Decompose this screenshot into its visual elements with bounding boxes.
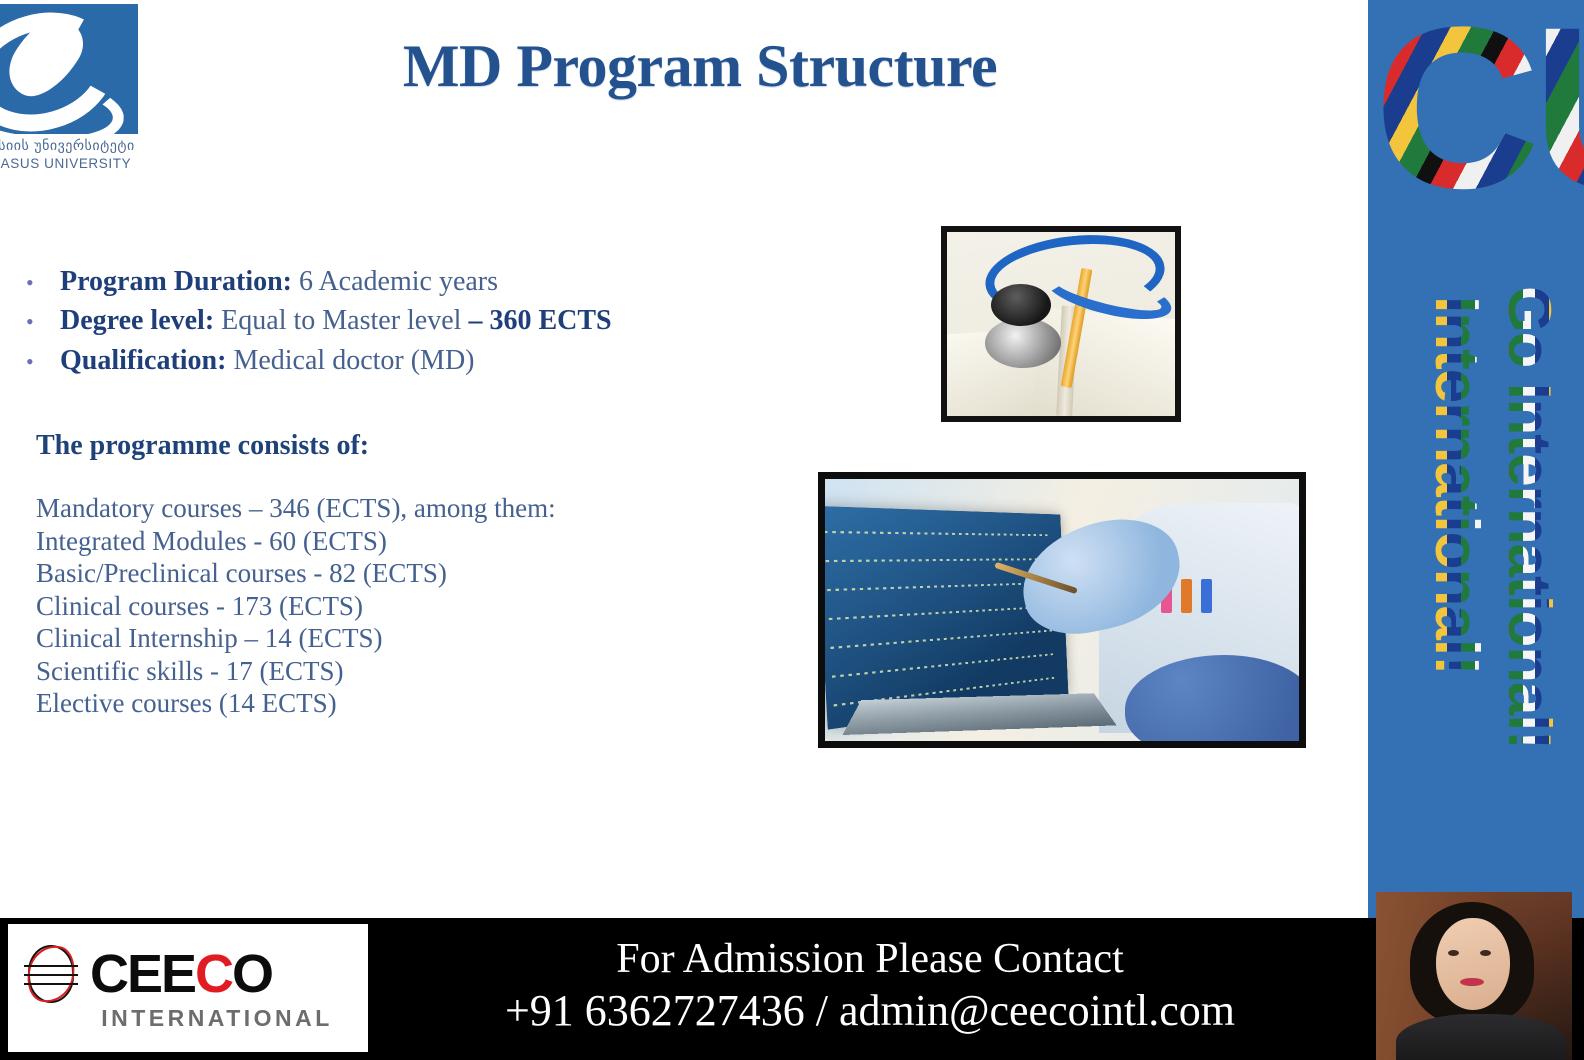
ceeco-subtitle: INTERNATIONAL bbox=[8, 1005, 368, 1032]
presenter-eye-left bbox=[1448, 950, 1459, 956]
list-item: Basic/Preclinical courses - 82 (ECTS) bbox=[36, 557, 796, 590]
banner-text-international: International! bbox=[1421, 296, 1492, 675]
ceeco-international-logo: CEECO INTERNATIONAL bbox=[8, 924, 368, 1052]
list-item: Clinical courses - 173 (ECTS) bbox=[36, 590, 796, 623]
laptop-keyboard-base bbox=[842, 693, 1116, 735]
list-item: • Program Duration:6 Academic years bbox=[18, 266, 738, 298]
caucasus-university-logo: კავკასიის უნივერსიტეტი CAUCASUS UNIVERSI… bbox=[0, 4, 138, 176]
slide-canvas: კავკასიის უნივერსიტეტი CAUCASUS UNIVERSI… bbox=[0, 0, 1584, 1060]
university-logo-mark bbox=[0, 4, 138, 134]
list-item: • Degree level:Equal to Master level – 3… bbox=[18, 305, 738, 337]
list-item: Scientific skills - 17 (ECTS) bbox=[36, 655, 796, 688]
list-item: Integrated Modules - 60 (ECTS) bbox=[36, 525, 796, 558]
bullet-emphasis: – 360 ECTS bbox=[468, 305, 611, 336]
ceeco-wordmark: CEECO bbox=[90, 947, 272, 1001]
globe-parallel bbox=[24, 983, 78, 985]
globe-equator bbox=[24, 974, 78, 976]
presenter-lips bbox=[1460, 978, 1484, 986]
programme-heading: The programme consists of: bbox=[36, 430, 369, 462]
presenter-webcam-thumbnail[interactable] bbox=[1376, 892, 1572, 1060]
bullet-value: Medical doctor (MD) bbox=[233, 345, 474, 376]
contact-heading: For Admission Please Contact bbox=[380, 934, 1360, 984]
bullet-label: Program Duration: bbox=[60, 266, 292, 297]
logo-caption-georgian: კავკასიის უნივერსიტეტი bbox=[0, 138, 138, 154]
bullet-icon: • bbox=[18, 351, 60, 373]
test-tube-blue bbox=[1201, 579, 1212, 613]
data-trace bbox=[832, 653, 1056, 678]
bullet-value: 6 Academic years bbox=[299, 266, 498, 297]
programme-breakdown-list: Mandatory courses – 346 (ECTS), among th… bbox=[36, 492, 796, 720]
presenter-shoulders bbox=[1396, 1014, 1566, 1060]
data-trace bbox=[827, 582, 1052, 591]
contact-block: For Admission Please Contact +91 6362727… bbox=[380, 934, 1360, 1038]
list-item: Clinical Internship – 14 (ECTS) bbox=[36, 622, 796, 655]
ceeco-text-part-1: CEE bbox=[90, 944, 195, 1004]
stethoscope-chestpiece bbox=[991, 284, 1051, 326]
list-item: Mandatory courses – 346 (ECTS), among th… bbox=[36, 492, 796, 525]
book-right-page bbox=[1032, 308, 1181, 422]
ceeco-text-part-3: O bbox=[232, 944, 272, 1004]
bullet-label: Degree level: bbox=[60, 305, 214, 336]
data-trace bbox=[829, 606, 1054, 620]
bullet-icon: • bbox=[18, 311, 60, 333]
test-tube-orange bbox=[1181, 579, 1192, 613]
data-trace bbox=[825, 558, 1051, 562]
laboratory-photo bbox=[818, 472, 1306, 748]
list-item: • Qualification:Medical doctor (MD) bbox=[18, 345, 738, 377]
banner-cu-monogram: CU bbox=[1374, 0, 1584, 258]
bullet-icon: • bbox=[18, 272, 60, 294]
list-item: Elective courses (14 ECTS) bbox=[36, 687, 796, 720]
banner-text-go-international: Go International! bbox=[1495, 286, 1564, 749]
presenter-eye-right bbox=[1480, 950, 1491, 956]
globe-icon bbox=[22, 945, 80, 1003]
ceeco-text-part-2: C bbox=[195, 944, 232, 1004]
bullet-value: Equal to Master level bbox=[221, 305, 461, 336]
globe-parallel bbox=[24, 965, 78, 967]
footer-bar: CEECO INTERNATIONAL For Admission Please… bbox=[0, 918, 1584, 1060]
stethoscope-photo bbox=[941, 226, 1181, 422]
data-trace bbox=[830, 629, 1054, 649]
data-trace bbox=[824, 531, 1050, 536]
go-international-banner: CU Go International! International! bbox=[1368, 0, 1584, 918]
program-facts-list: • Program Duration:6 Academic years • De… bbox=[18, 266, 738, 384]
ceeco-wordmark-row: CEECO bbox=[8, 945, 368, 1003]
bullet-label: Qualification: bbox=[60, 345, 226, 376]
logo-caption-english: CAUCASUS UNIVERSITY bbox=[0, 156, 138, 171]
presenter-face bbox=[1436, 918, 1510, 1010]
contact-details: +91 6362727436 / admin@ceecointl.com bbox=[380, 984, 1360, 1038]
page-title: MD Program Structure bbox=[200, 32, 1200, 101]
